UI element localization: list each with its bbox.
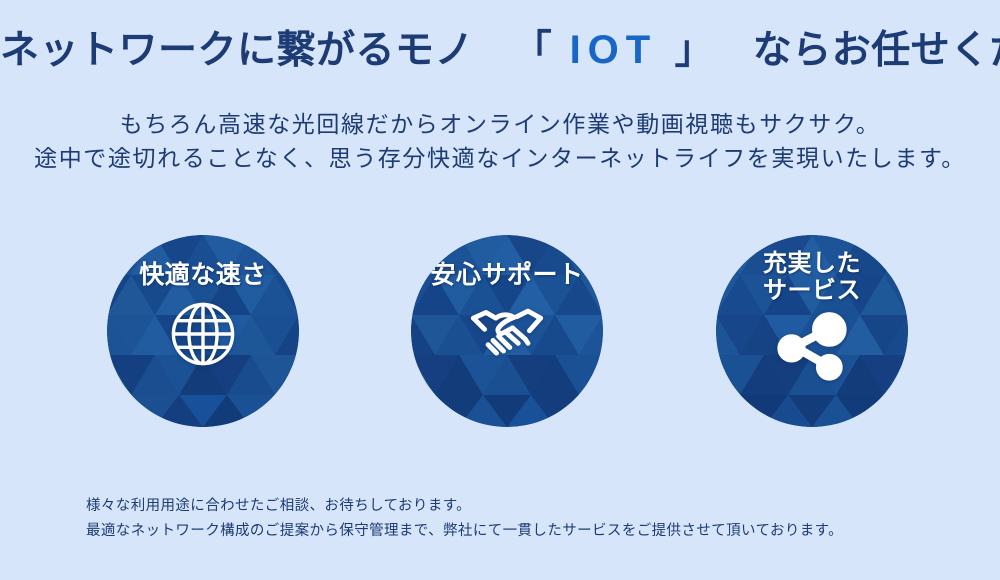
feature-circle-support[interactable]: 安心サポート	[411, 235, 603, 427]
feature-circle-speed[interactable]: 快適な速さ	[107, 235, 299, 427]
promo-banner: ネットワークに繋がるモノ 「 IOT 」 ならお任せください。 もちろん高速な光…	[0, 0, 1000, 580]
feature-label-service: 充実した サービス	[763, 251, 861, 305]
feature-label-support: 安心サポート	[430, 261, 583, 289]
feature-content-speed: 快適な速さ	[107, 235, 299, 427]
feature-content-service: 充実した サービス	[716, 235, 908, 427]
bracket-open: 「	[511, 29, 555, 72]
headline-text-before: ネットワークに繋がるモノ	[0, 29, 474, 72]
footer-line-2: 最適なネットワーク構成のご提案から保守管理まで、弊社にて一貫したサービスをご提供…	[86, 519, 843, 544]
subtitle-line-1: もちろん高速な光回線だからオンライン作業や動画視聴もサクサク。	[0, 108, 1000, 142]
subtitle-line-2: 途中で途切れることなく、思う存分快適なインターネットライフを実現いたします。	[0, 142, 1000, 176]
headline-highlight-iot: IOT	[566, 28, 662, 72]
bracket-close: 」	[673, 29, 717, 72]
globe-icon	[166, 297, 240, 376]
handshake-icon	[465, 297, 549, 368]
subtitle: もちろん高速な光回線だからオンライン作業や動画視聴もサクサク。 途中で途切れるこ…	[0, 108, 1000, 176]
headline: ネットワークに繋がるモノ 「 IOT 」 ならお任せください。	[0, 26, 1000, 75]
feature-label-speed: 快適な速さ	[139, 261, 267, 289]
feature-circle-group: 快適な速さ	[0, 235, 1000, 430]
headline-text-after: ならお任せください。	[753, 29, 1000, 72]
share-network-icon	[772, 309, 852, 388]
feature-circle-service[interactable]: 充実した サービス	[716, 235, 908, 427]
feature-content-support: 安心サポート	[411, 235, 603, 427]
footer-line-1: 様々な利用用途に合わせたご相談、お待ちしております。	[86, 494, 843, 519]
footer-note: 様々な利用用途に合わせたご相談、お待ちしております。 最適なネットワーク構成のご…	[86, 494, 843, 544]
